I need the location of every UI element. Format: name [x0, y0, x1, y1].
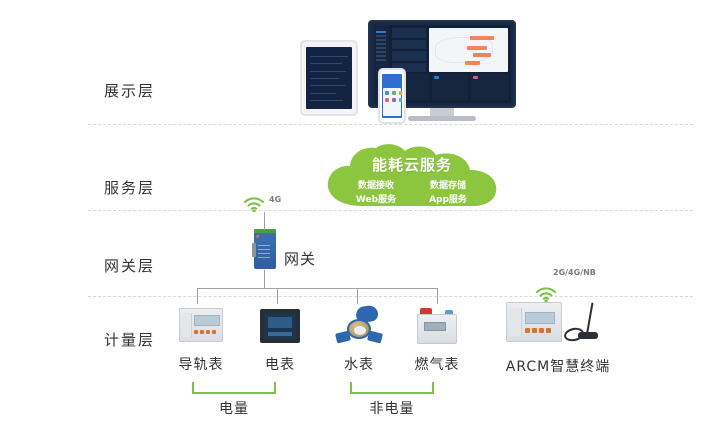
cloud-service-item: 数据存储 [412, 178, 484, 191]
din-rail-meter-cap [182, 313, 192, 337]
panel-electric-meter-icon [243, 304, 317, 350]
bracket-label-non-electric: 非电量 [350, 398, 434, 418]
bracket-non-electric [350, 382, 434, 394]
meter-electric: 电表 [243, 304, 317, 374]
cloud-service-item: Web服务 [340, 192, 412, 205]
meter-water: 水表 [322, 304, 396, 374]
tablet-icon [300, 40, 358, 116]
phone-screen [382, 74, 402, 118]
connector-drop-gas [437, 288, 438, 304]
arcm-terminal-display [525, 312, 555, 324]
phone-app-grid [383, 88, 401, 116]
gas-meter-body [417, 308, 457, 344]
arcm-terminal-body [506, 302, 562, 342]
connector-cloud-to-gateway [264, 212, 265, 230]
antenna-cable [563, 326, 585, 343]
presentation-devices-group [300, 8, 540, 120]
arcm-terminal-buttons [525, 328, 551, 333]
layer-label-gateway: 网关层 [104, 255, 188, 276]
antenna-rod [586, 302, 594, 334]
cloud-title: 能耗云服务 [318, 154, 506, 175]
connector-drop-rail [197, 288, 198, 304]
smartphone-icon [378, 68, 406, 124]
cloud-service-list: 数据接收 数据存储 Web服务 App服务 [318, 178, 506, 205]
meter-din-rail: 导轨表 [164, 304, 238, 374]
meter-label: 燃气表 [400, 354, 474, 374]
gateway-label: 网关 [284, 248, 316, 269]
meter-label: 水表 [322, 354, 396, 374]
connector-gateway-down [264, 270, 265, 288]
electric-meter-indicator-row [268, 332, 292, 336]
wifi-signal-icon [243, 196, 265, 212]
gateway-network-label: 4G [269, 195, 281, 204]
dashboard-main [389, 25, 511, 103]
gateway-body [254, 233, 276, 269]
water-meter-icon [322, 304, 396, 350]
gas-meter-icon [400, 304, 474, 350]
bracket-label-electric: 电量 [192, 398, 276, 418]
din-rail-meter-buttons [194, 330, 216, 334]
din-rail-meter-icon [164, 304, 238, 350]
arcm-network-label: 2G/4G/NB [553, 268, 596, 277]
electric-meter-display [268, 317, 292, 328]
dashboard-bottom-row [392, 74, 508, 100]
gateway-port [252, 243, 256, 257]
bracket-electric [192, 382, 276, 394]
meter-label: 导轨表 [164, 354, 238, 374]
cloud-service-item: App服务 [412, 192, 484, 205]
water-meter-body [336, 306, 382, 348]
din-rail-meter-body [179, 308, 223, 342]
arcm-terminal-cap [509, 308, 522, 336]
architecture-diagram: 展示层 服务层 网关层 计量层 [0, 0, 715, 443]
din-rail-meter-display [194, 315, 220, 326]
arcm-terminal-label: ARCM智慧终端 [498, 356, 618, 376]
connector-drop-water [357, 288, 358, 304]
gateway-device-icon [252, 229, 278, 271]
layer-label-presentation: 展示层 [104, 80, 188, 101]
gas-meter-case [417, 314, 457, 344]
gas-meter-display [424, 322, 446, 331]
gateway-led [256, 235, 259, 238]
cloud-service-node: 能耗云服务 数据接收 数据存储 Web服务 App服务 [318, 144, 506, 210]
electric-meter-face [264, 313, 296, 339]
arcm-terminal-icon [498, 296, 618, 346]
dashboard-top-row [392, 28, 508, 72]
meter-gas: 燃气表 [400, 304, 474, 374]
cloud-text-block: 能耗云服务 数据接收 数据存储 Web服务 App服务 [318, 144, 506, 210]
layer-divider-service-gateway [88, 210, 693, 211]
monitor-stand-base [408, 116, 476, 121]
layer-divider-presentation-service [88, 124, 693, 125]
layer-label-service: 服务层 [104, 177, 188, 198]
arcm-smart-terminal: ARCM智慧终端 [498, 296, 618, 376]
tablet-screen [306, 47, 352, 109]
electric-meter-body [260, 309, 300, 343]
antenna-icon [564, 302, 604, 344]
connector-bus-horizontal [197, 288, 437, 289]
dashboard-stat-cards [392, 28, 426, 72]
connector-drop-elec [277, 288, 278, 304]
meter-label: 电表 [243, 354, 317, 374]
cloud-service-item: 数据接收 [340, 178, 412, 191]
water-meter-dial [347, 319, 371, 339]
dashboard-map-panel [429, 28, 508, 72]
